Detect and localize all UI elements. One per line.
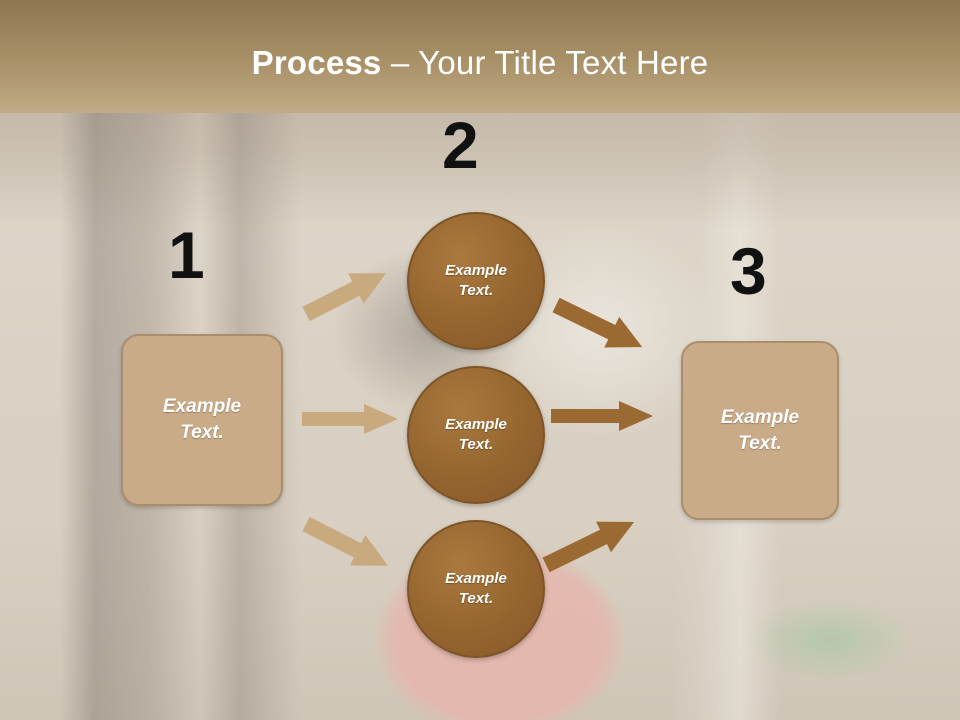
arrow-middle-to-right (551, 401, 653, 431)
process-box-right-line2: Text. (721, 431, 799, 457)
step-number-3: 3 (730, 238, 767, 304)
process-box-left[interactable]: Example Text. (121, 334, 283, 506)
process-circle-middle-line1: Example (445, 415, 507, 435)
process-box-left-line2: Text. (163, 420, 241, 446)
page-title: Process – Your Title Text Here (0, 44, 960, 82)
process-circle-top[interactable]: Example Text. (407, 212, 545, 350)
process-box-left-label: Example Text. (163, 394, 241, 445)
process-circle-bottom-label: Example Text. (445, 569, 507, 610)
process-circle-middle-label: Example Text. (445, 415, 507, 456)
page-title-rest: – Your Title Text Here (381, 44, 708, 81)
process-circle-bottom[interactable]: Example Text. (407, 520, 545, 658)
page-title-strong: Process (252, 44, 382, 81)
process-circle-middle[interactable]: Example Text. (407, 366, 545, 504)
process-circle-middle-line2: Text. (445, 435, 507, 455)
process-circle-bottom-line2: Text. (445, 589, 507, 609)
arrow-left-to-middle (302, 404, 398, 434)
process-circle-top-line1: Example (445, 261, 507, 281)
slide-canvas: Process – Your Title Text Here 1 2 3 (0, 0, 960, 720)
process-box-right-label: Example Text. (721, 405, 799, 456)
process-circle-bottom-line1: Example (445, 569, 507, 589)
process-box-right[interactable]: Example Text. (681, 341, 839, 520)
step-number-2: 2 (442, 112, 479, 178)
process-box-left-line1: Example (163, 394, 241, 420)
process-box-right-line1: Example (721, 405, 799, 431)
step-number-1: 1 (168, 222, 205, 288)
process-circle-top-line2: Text. (445, 281, 507, 301)
process-circle-top-label: Example Text. (445, 261, 507, 302)
